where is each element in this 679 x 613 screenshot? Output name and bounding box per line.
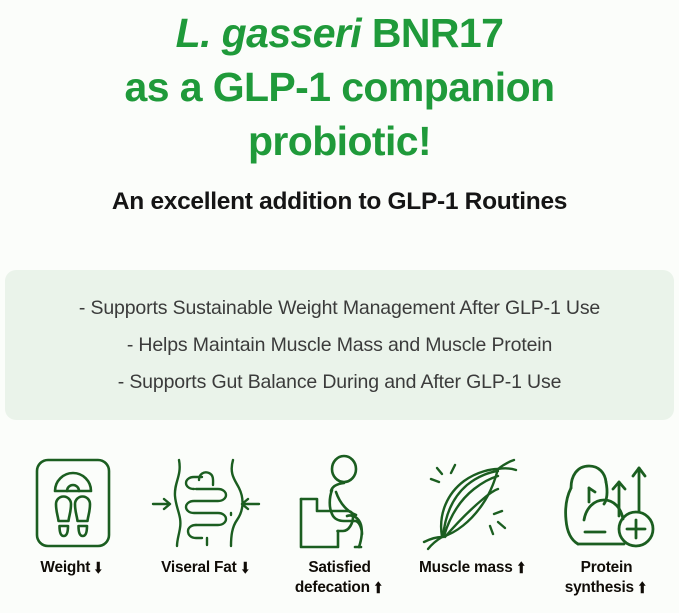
icon-label: Viseral Fat xyxy=(161,559,236,576)
flexed-bicep-plus-icon xyxy=(555,452,659,554)
icon-caption-defecation: Satisfieddefecation⬆ xyxy=(295,558,384,598)
arrow-down-icon: ⬇ xyxy=(94,559,104,579)
icon-label-line-1: Protein xyxy=(565,558,649,578)
benefits-panel: - Supports Sustainable Weight Management… xyxy=(5,270,674,420)
arrow-up-icon: ⬆ xyxy=(516,559,526,579)
icon-label: Muscle mass xyxy=(419,559,513,576)
page-subtitle: An excellent addition to GLP-1 Routines xyxy=(0,188,679,216)
benefit-item: - Helps Maintain Muscle Mass and Muscle … xyxy=(127,327,552,364)
benefit-item: - Supports Sustainable Weight Management… xyxy=(79,290,600,327)
icon-caption-weight: Weight⬇ xyxy=(40,558,104,578)
benefit-icon-cell-muscle-mass: Muscle mass⬆ xyxy=(407,452,540,578)
icon-label-line-1: Satisfied xyxy=(295,558,384,578)
benefit-icon-cell-defecation: Satisfieddefecation⬆ xyxy=(273,452,406,598)
arrow-up-icon: ⬆ xyxy=(373,579,383,599)
icon-label-line-2: synthesis xyxy=(565,579,634,596)
benefit-icon-strip: Weight⬇ Viseral Fa xyxy=(0,452,679,613)
benefit-icon-cell-weight: Weight⬇ xyxy=(6,452,139,578)
benefit-icon-cell-visceral-fat: Viseral Fat⬇ xyxy=(140,452,273,578)
species-name: L. gasseri xyxy=(176,10,361,56)
muscle-fiber-icon xyxy=(418,452,528,554)
waistline-intestine-icon xyxy=(147,452,265,554)
headline-line-3: probiotic! xyxy=(0,114,679,168)
icon-caption-protein-synthesis: Proteinsynthesis⬆ xyxy=(565,558,649,598)
benefit-icon-cell-protein-synthesis: Proteinsynthesis⬆ xyxy=(540,452,673,598)
icon-caption-visceral-fat: Viseral Fat⬇ xyxy=(131,558,281,578)
person-on-toilet-icon xyxy=(292,452,388,554)
benefit-item: - Supports Gut Balance During and After … xyxy=(118,364,562,401)
bathroom-scale-icon xyxy=(25,452,121,554)
headline-line-1: L. gasseri BNR17 xyxy=(0,6,679,60)
icon-label: Weight xyxy=(40,559,90,576)
arrow-up-icon: ⬆ xyxy=(637,579,647,599)
strain-name: BNR17 xyxy=(361,10,503,56)
headline-line-2: as a GLP-1 companion xyxy=(0,60,679,114)
arrow-down-icon: ⬇ xyxy=(240,559,250,579)
icon-caption-muscle-mass: Muscle mass⬆ xyxy=(398,558,548,578)
page-title: L. gasseri BNR17 as a GLP-1 companion pr… xyxy=(0,0,679,168)
icon-label-line-2: defecation xyxy=(295,579,370,596)
